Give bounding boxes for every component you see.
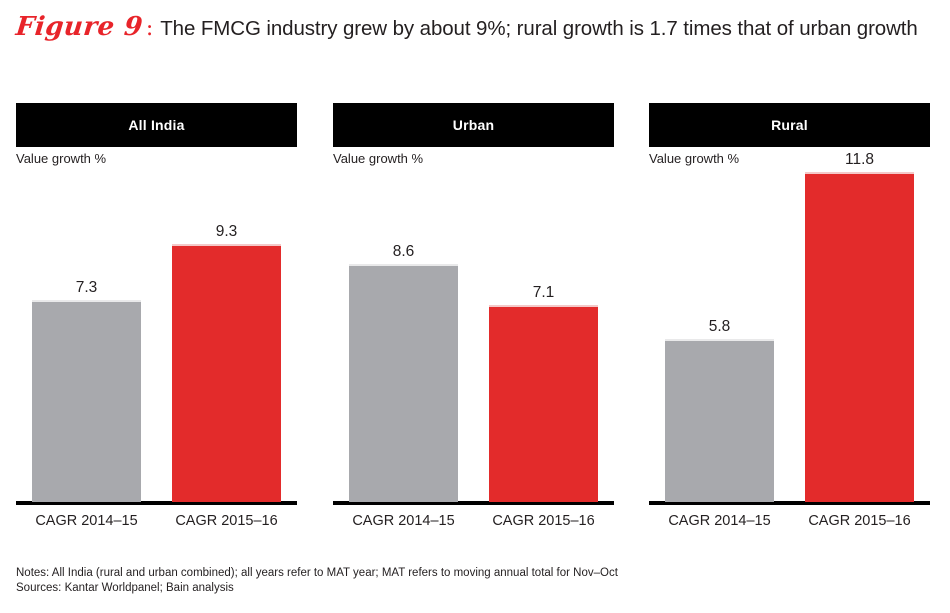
bar-rect[interactable] xyxy=(805,172,914,502)
notes-line: Notes: All India (rural and urban combin… xyxy=(16,566,934,581)
bar-rect[interactable] xyxy=(349,264,458,502)
bar-value-label: 11.8 xyxy=(805,151,914,169)
category-label: CAGR 2015–16 xyxy=(489,513,598,529)
figure-page: Figure 9 : The FMCG industry grew by abo… xyxy=(0,0,950,613)
plot-area-urban: 8.6 CAGR 2014–15 7.1 CAGR 2015–16 xyxy=(333,173,614,534)
panel-subtitle: Value growth % xyxy=(333,151,423,166)
panel-all-india: All India Value growth % 7.3 CAGR 2014–1… xyxy=(16,103,297,563)
panel-subtitle: Value growth % xyxy=(649,151,739,166)
panel-header-label: Rural xyxy=(771,117,808,133)
category-label: CAGR 2014–15 xyxy=(32,513,141,529)
panel-subtitle: Value growth % xyxy=(16,151,106,166)
bar-value-label: 7.1 xyxy=(489,284,598,302)
plot-area-rural: 5.8 CAGR 2014–15 11.8 CAGR 2015–16 xyxy=(649,173,930,534)
bar-value-label: 9.3 xyxy=(172,223,281,241)
bar-value-label: 5.8 xyxy=(665,318,774,336)
page-title: The FMCG industry grew by about 9%; rura… xyxy=(160,17,917,41)
bar-value-label: 8.6 xyxy=(349,243,458,261)
category-label: CAGR 2014–15 xyxy=(665,513,774,529)
panel-header-urban: Urban xyxy=(333,103,614,147)
panel-header-rural: Rural xyxy=(649,103,930,147)
bar-rect[interactable] xyxy=(32,300,141,502)
bar-rect[interactable] xyxy=(172,244,281,502)
figure-colon: : xyxy=(146,16,153,41)
category-label: CAGR 2015–16 xyxy=(805,513,914,529)
bar-value-label: 7.3 xyxy=(32,279,141,297)
panel-header-label: Urban xyxy=(453,117,494,133)
sources-line: Sources: Kantar Worldpanel; Bain analysi… xyxy=(16,581,934,596)
category-label: CAGR 2014–15 xyxy=(349,513,458,529)
bar-rect[interactable] xyxy=(489,305,598,502)
bar-rect[interactable] xyxy=(665,339,774,502)
panel-rural: Rural Value growth % 5.8 CAGR 2014–15 11… xyxy=(649,103,930,563)
category-label: CAGR 2015–16 xyxy=(172,513,281,529)
footer-notes: Notes: All India (rural and urban combin… xyxy=(16,566,934,596)
plot-area-all-india: 7.3 CAGR 2014–15 9.3 CAGR 2015–16 xyxy=(16,173,297,534)
panel-header-label: All India xyxy=(128,117,184,133)
figure-title-row: Figure 9 : The FMCG industry grew by abo… xyxy=(16,12,934,50)
figure-number-label: Figure 9 xyxy=(14,12,144,42)
panel-urban: Urban Value growth % 8.6 CAGR 2014–15 7.… xyxy=(333,103,614,563)
panel-header-all-india: All India xyxy=(16,103,297,147)
